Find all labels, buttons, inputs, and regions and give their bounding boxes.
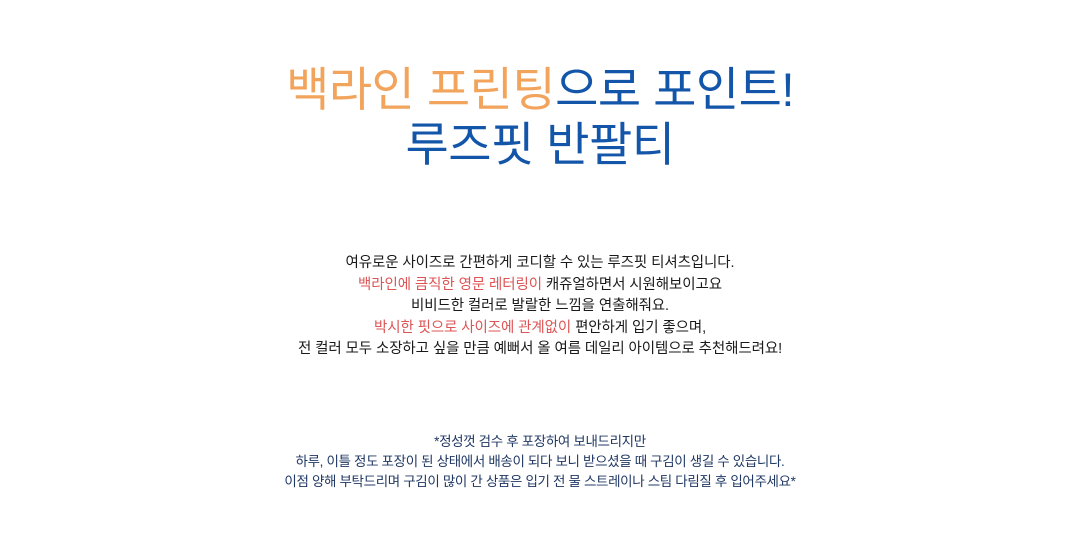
product-detail-banner: 백라인 프린팅으로 포인트! 루즈핏 반팔티 여유로운 사이즈로 간편하게 코디… [0,0,1080,535]
description-line-5: 전 컬러 모두 소장하고 싶을 만큼 예뻐서 올 여름 데일리 아이템으로 추천… [0,339,1080,361]
description-line-2-rest: 캐쥬얼하면서 시원해보이고요 [542,277,722,293]
description-line-1: 여유로운 사이즈로 간편하게 코디할 수 있는 루즈핏 티셔츠입니다. [0,253,1080,275]
description-line-4: 박시한 핏으로 사이즈에 관계없이 편안하게 입기 좋으며, [0,318,1080,340]
care-notice-line-3: 이점 양해 부탁드리며 구김이 많이 간 상품은 입기 전 물 스트레이나 스팀… [0,472,1080,492]
care-notice-line-2: 하루, 이틀 정도 포장이 된 상태에서 배송이 되다 보니 받으셨을 때 구김… [0,452,1080,472]
description-line-3: 비비드한 컬러로 발랄한 느낌을 연출해줘요. [0,296,1080,318]
description-line-4-highlight: 박시한 핏으로 사이즈에 관계없이 [374,320,571,336]
headline-line-1: 백라인 프린팅으로 포인트! [0,63,1080,118]
care-notice-line-1: *정성껏 검수 후 포장하여 보내드리지만 [0,432,1080,452]
headline-line-1-suffix: 으로 포인트! [555,63,794,116]
headline-accent-text: 백라인 프린팅 [286,63,555,116]
description-line-2: 백라인에 큼직한 영문 레터링이 캐쥬얼하면서 시원해보이고요 [0,275,1080,297]
headline-block: 백라인 프린팅으로 포인트! 루즈핏 반팔티 [0,63,1080,172]
care-notice-block: *정성껏 검수 후 포장하여 보내드리지만 하루, 이틀 정도 포장이 된 상태… [0,432,1080,492]
headline-line-2: 루즈핏 반팔티 [0,118,1080,173]
description-block: 여유로운 사이즈로 간편하게 코디할 수 있는 루즈핏 티셔츠입니다. 백라인에… [0,253,1080,361]
description-line-2-highlight: 백라인에 큼직한 영문 레터링이 [358,277,542,293]
description-line-4-rest: 편안하게 입기 좋으며, [571,320,706,336]
